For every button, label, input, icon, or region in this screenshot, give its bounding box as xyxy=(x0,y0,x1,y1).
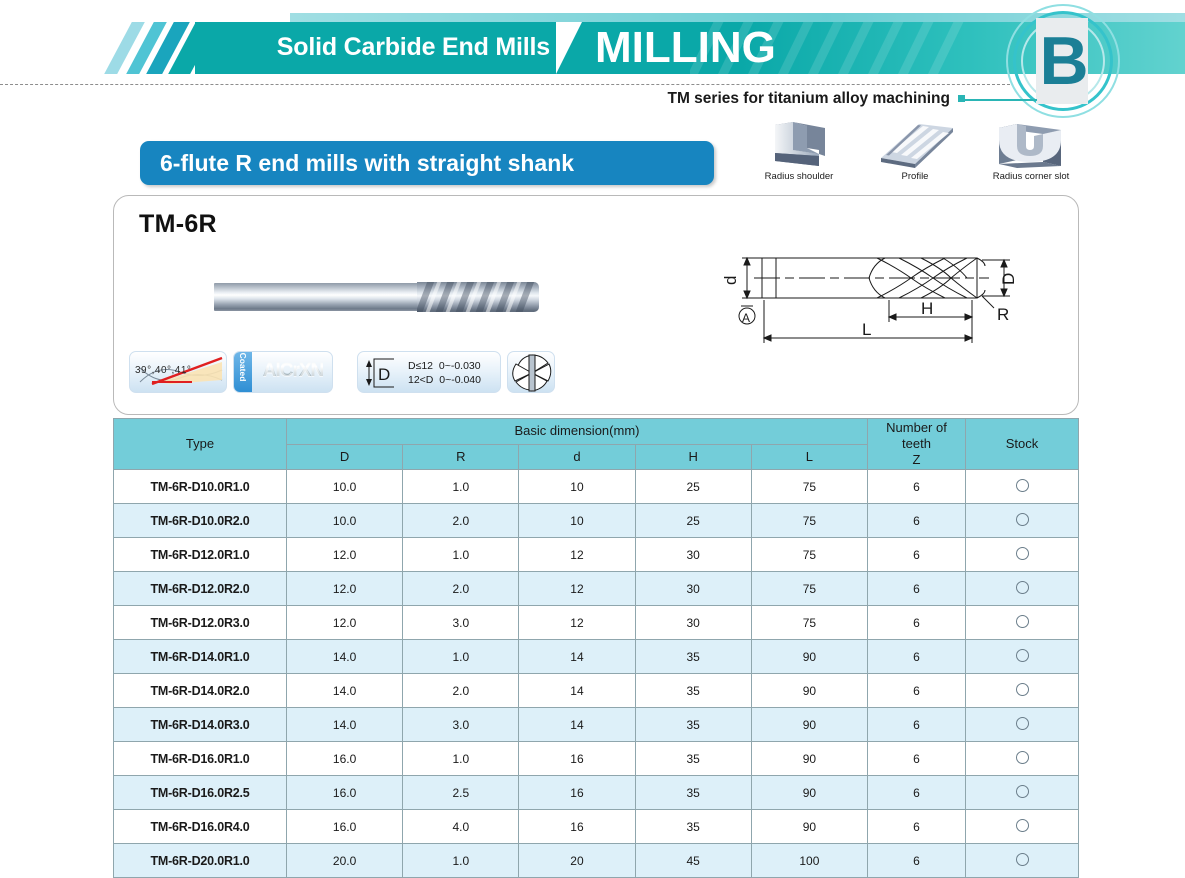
cell-type: TM-6R-D14.0R2.0 xyxy=(114,674,287,708)
stock-available-icon xyxy=(1016,819,1029,832)
cell-stock xyxy=(966,640,1079,674)
cell-D: 12.0 xyxy=(287,538,403,572)
cell-d: 14 xyxy=(519,640,635,674)
cell-R: 3.0 xyxy=(403,708,519,742)
table-row[interactable]: TM-6R-D20.0R1.020.01.020451006 xyxy=(114,844,1079,878)
cell-R: 2.5 xyxy=(403,776,519,810)
cell-D: 14.0 xyxy=(287,674,403,708)
cell-D: 16.0 xyxy=(287,742,403,776)
section-title-banner: 6-flute R end mills with straight shank xyxy=(140,141,714,185)
cell-R: 1.0 xyxy=(403,538,519,572)
cell-stock xyxy=(966,742,1079,776)
product-model-name: TM-6R xyxy=(139,210,217,239)
table-row[interactable]: TM-6R-D16.0R2.516.02.51635906 xyxy=(114,776,1079,810)
diameter-tolerance-badge: D D≤12 0~-0.030 12<D 0~-0.040 xyxy=(357,351,501,393)
stock-available-icon xyxy=(1016,785,1029,798)
operation-label: Profile xyxy=(861,171,969,182)
cell-stock xyxy=(966,776,1079,810)
stock-available-icon xyxy=(1016,683,1029,696)
table-header-row-1: Type Basic dimension(mm) Number of teeth… xyxy=(114,419,1079,445)
cell-Z: 6 xyxy=(868,470,966,504)
cell-D: 14.0 xyxy=(287,708,403,742)
cell-type: TM-6R-D12.0R2.0 xyxy=(114,572,287,606)
cell-L: 100 xyxy=(751,844,867,878)
cell-L: 75 xyxy=(751,606,867,640)
cell-R: 2.0 xyxy=(403,504,519,538)
cell-L: 75 xyxy=(751,572,867,606)
table-row[interactable]: TM-6R-D14.0R1.014.01.01435906 xyxy=(114,640,1079,674)
cell-Z: 6 xyxy=(868,504,966,538)
stock-available-icon xyxy=(1016,853,1029,866)
col-header-basic-dimension: Basic dimension(mm) xyxy=(287,419,868,445)
header-subtitle: TM series for titanium alloy machining xyxy=(450,90,950,108)
col-header-teeth: Number of teeth Z xyxy=(868,419,966,470)
cell-D: 10.0 xyxy=(287,470,403,504)
cell-R: 1.0 xyxy=(403,742,519,776)
cell-L: 75 xyxy=(751,470,867,504)
cell-type: TM-6R-D12.0R3.0 xyxy=(114,606,287,640)
cell-R: 1.0 xyxy=(403,470,519,504)
cell-stock xyxy=(966,708,1079,742)
table-row[interactable]: TM-6R-D12.0R3.012.03.01230756 xyxy=(114,606,1079,640)
table-body: TM-6R-D10.0R1.010.01.01025756TM-6R-D10.0… xyxy=(114,470,1079,878)
cell-Z: 6 xyxy=(868,640,966,674)
operation-label: Radius corner slot xyxy=(977,171,1085,182)
coated-label: Coated xyxy=(238,351,248,386)
cell-R: 4.0 xyxy=(403,810,519,844)
cell-H: 35 xyxy=(635,742,751,776)
cell-Z: 6 xyxy=(868,538,966,572)
stock-available-icon xyxy=(1016,479,1029,492)
col-header-L: L xyxy=(751,444,867,470)
col-header-H: H xyxy=(635,444,751,470)
table-row[interactable]: TM-6R-D12.0R2.012.02.01230756 xyxy=(114,572,1079,606)
table-row[interactable]: TM-6R-D10.0R2.010.02.01025756 xyxy=(114,504,1079,538)
specification-table: Type Basic dimension(mm) Number of teeth… xyxy=(113,418,1079,878)
cell-L: 75 xyxy=(751,538,867,572)
cell-H: 35 xyxy=(635,776,751,810)
table-row[interactable]: TM-6R-D14.0R2.014.02.01435906 xyxy=(114,674,1079,708)
product-card: TM-6R xyxy=(113,195,1079,415)
cell-H: 30 xyxy=(635,572,751,606)
cell-d: 12 xyxy=(519,572,635,606)
coating-name: AlCrXN xyxy=(254,360,332,382)
flute-cross-section-badge xyxy=(507,351,555,393)
cell-H: 35 xyxy=(635,674,751,708)
tolerance-text: D≤12 0~-0.030 12<D 0~-0.040 xyxy=(408,359,481,387)
table-head: Type Basic dimension(mm) Number of teeth… xyxy=(114,419,1079,470)
stock-available-icon xyxy=(1016,581,1029,594)
teeth-line-2: teeth xyxy=(869,436,964,452)
cell-type: TM-6R-D16.0R4.0 xyxy=(114,810,287,844)
feature-badge-group: 39°,40°,41° Coated AlCrXN D D≤12 0~-0.03… xyxy=(129,351,549,399)
stock-available-icon xyxy=(1016,547,1029,560)
cell-Z: 6 xyxy=(868,844,966,878)
cell-L: 90 xyxy=(751,776,867,810)
subtitle-marker-dot xyxy=(958,95,965,102)
cell-D: 12.0 xyxy=(287,572,403,606)
cell-Z: 6 xyxy=(868,776,966,810)
cell-L: 90 xyxy=(751,708,867,742)
cell-R: 2.0 xyxy=(403,572,519,606)
cell-R: 1.0 xyxy=(403,844,519,878)
cell-H: 30 xyxy=(635,538,751,572)
stock-available-icon xyxy=(1016,615,1029,628)
cell-Z: 6 xyxy=(868,708,966,742)
cell-stock xyxy=(966,504,1079,538)
cell-L: 90 xyxy=(751,640,867,674)
cell-D: 12.0 xyxy=(287,606,403,640)
cell-d: 20 xyxy=(519,844,635,878)
cell-H: 25 xyxy=(635,470,751,504)
cell-L: 90 xyxy=(751,810,867,844)
tolerance-line-1: D≤12 0~-0.030 xyxy=(408,360,481,372)
teeth-line-3: Z xyxy=(869,452,964,468)
helix-angle-badge: 39°,40°,41° xyxy=(129,351,227,393)
cell-H: 35 xyxy=(635,810,751,844)
cell-stock xyxy=(966,572,1079,606)
operation-profile: Profile xyxy=(861,120,969,192)
subtitle-connector-line xyxy=(965,99,1037,101)
page-header: Solid Carbide End Mills MILLING B TM ser… xyxy=(0,0,1185,120)
cell-H: 35 xyxy=(635,640,751,674)
cell-d: 16 xyxy=(519,810,635,844)
cell-H: 45 xyxy=(635,844,751,878)
radius-shoulder-icon xyxy=(745,120,853,170)
cell-D: 16.0 xyxy=(287,776,403,810)
cell-type: TM-6R-D16.0R2.5 xyxy=(114,776,287,810)
cell-D: 20.0 xyxy=(287,844,403,878)
dim-label-H: H xyxy=(921,299,933,318)
cell-R: 2.0 xyxy=(403,674,519,708)
cell-type: TM-6R-D10.0R2.0 xyxy=(114,504,287,538)
operation-radius-corner-slot: Radius corner slot xyxy=(977,120,1085,192)
cell-d: 12 xyxy=(519,606,635,640)
cell-d: 12 xyxy=(519,538,635,572)
header-title: Solid Carbide End Mills xyxy=(200,33,550,62)
cell-d: 14 xyxy=(519,708,635,742)
tolerance-line-2: 12<D 0~-0.040 xyxy=(408,374,481,386)
cell-Z: 6 xyxy=(868,606,966,640)
table-row[interactable]: TM-6R-D12.0R1.012.01.01230756 xyxy=(114,538,1079,572)
cell-D: 14.0 xyxy=(287,640,403,674)
cell-d: 16 xyxy=(519,776,635,810)
stock-available-icon xyxy=(1016,751,1029,764)
cell-d: 10 xyxy=(519,504,635,538)
stock-available-icon xyxy=(1016,717,1029,730)
coating-badge: Coated AlCrXN xyxy=(233,351,333,393)
cell-stock xyxy=(966,674,1079,708)
cell-H: 35 xyxy=(635,708,751,742)
cell-Z: 6 xyxy=(868,674,966,708)
col-header-D: D xyxy=(287,444,403,470)
helix-angle-text: 39°,40°,41° xyxy=(135,365,191,376)
cell-L: 90 xyxy=(751,674,867,708)
header-category: MILLING xyxy=(595,22,776,74)
dim-label-D: D xyxy=(999,273,1018,285)
table-row[interactable]: TM-6R-D14.0R3.014.03.01435906 xyxy=(114,708,1079,742)
header-notch xyxy=(556,22,582,74)
col-header-d: d xyxy=(519,444,635,470)
technical-drawing: d D R H L A xyxy=(714,244,1064,359)
svg-text:D: D xyxy=(378,365,390,384)
cell-L: 90 xyxy=(751,742,867,776)
cell-d: 14 xyxy=(519,674,635,708)
dim-label-d: d xyxy=(721,276,740,285)
stock-available-icon xyxy=(1016,513,1029,526)
section-title-text: 6-flute R end mills with straight shank xyxy=(140,141,714,185)
cell-stock xyxy=(966,470,1079,504)
radius-corner-slot-icon xyxy=(977,120,1085,170)
end-mill-shank xyxy=(214,283,420,311)
cell-Z: 6 xyxy=(868,572,966,606)
cell-R: 3.0 xyxy=(403,606,519,640)
cell-L: 75 xyxy=(751,504,867,538)
cell-Z: 6 xyxy=(868,742,966,776)
cell-d: 16 xyxy=(519,742,635,776)
table-row[interactable]: TM-6R-D16.0R4.016.04.01635906 xyxy=(114,810,1079,844)
end-mill-photo xyxy=(214,279,539,315)
cell-type: TM-6R-D14.0R3.0 xyxy=(114,708,287,742)
dim-label-L: L xyxy=(862,320,871,339)
col-header-type: Type xyxy=(114,419,287,470)
col-header-R: R xyxy=(403,444,519,470)
col-header-stock: Stock xyxy=(966,419,1079,470)
dim-label-R: R xyxy=(997,305,1009,324)
cell-type: TM-6R-D20.0R1.0 xyxy=(114,844,287,878)
profile-icon xyxy=(861,120,969,170)
cell-stock xyxy=(966,538,1079,572)
table-row[interactable]: TM-6R-D16.0R1.016.01.01635906 xyxy=(114,742,1079,776)
dim-label-A: A xyxy=(742,311,750,325)
cell-type: TM-6R-D14.0R1.0 xyxy=(114,640,287,674)
cell-type: TM-6R-D10.0R1.0 xyxy=(114,470,287,504)
coated-strip: Coated xyxy=(234,352,252,392)
cell-stock xyxy=(966,606,1079,640)
cell-d: 10 xyxy=(519,470,635,504)
table-row[interactable]: TM-6R-D10.0R1.010.01.01025756 xyxy=(114,470,1079,504)
cell-H: 30 xyxy=(635,606,751,640)
cell-stock xyxy=(966,844,1079,878)
cell-D: 16.0 xyxy=(287,810,403,844)
cell-type: TM-6R-D12.0R1.0 xyxy=(114,538,287,572)
end-mill-flutes xyxy=(417,282,539,312)
operation-label: Radius shoulder xyxy=(745,171,853,182)
header-dashed-rule xyxy=(0,84,1010,85)
cell-D: 10.0 xyxy=(287,504,403,538)
cell-H: 25 xyxy=(635,504,751,538)
stock-available-icon xyxy=(1016,649,1029,662)
cell-Z: 6 xyxy=(868,810,966,844)
cell-type: TM-6R-D16.0R1.0 xyxy=(114,742,287,776)
teeth-line-1: Number of xyxy=(869,420,964,436)
cell-stock xyxy=(966,810,1079,844)
operation-icon-group: Radius shoulder Profile xyxy=(745,120,1085,192)
operation-radius-shoulder: Radius shoulder xyxy=(745,120,853,192)
cell-R: 1.0 xyxy=(403,640,519,674)
